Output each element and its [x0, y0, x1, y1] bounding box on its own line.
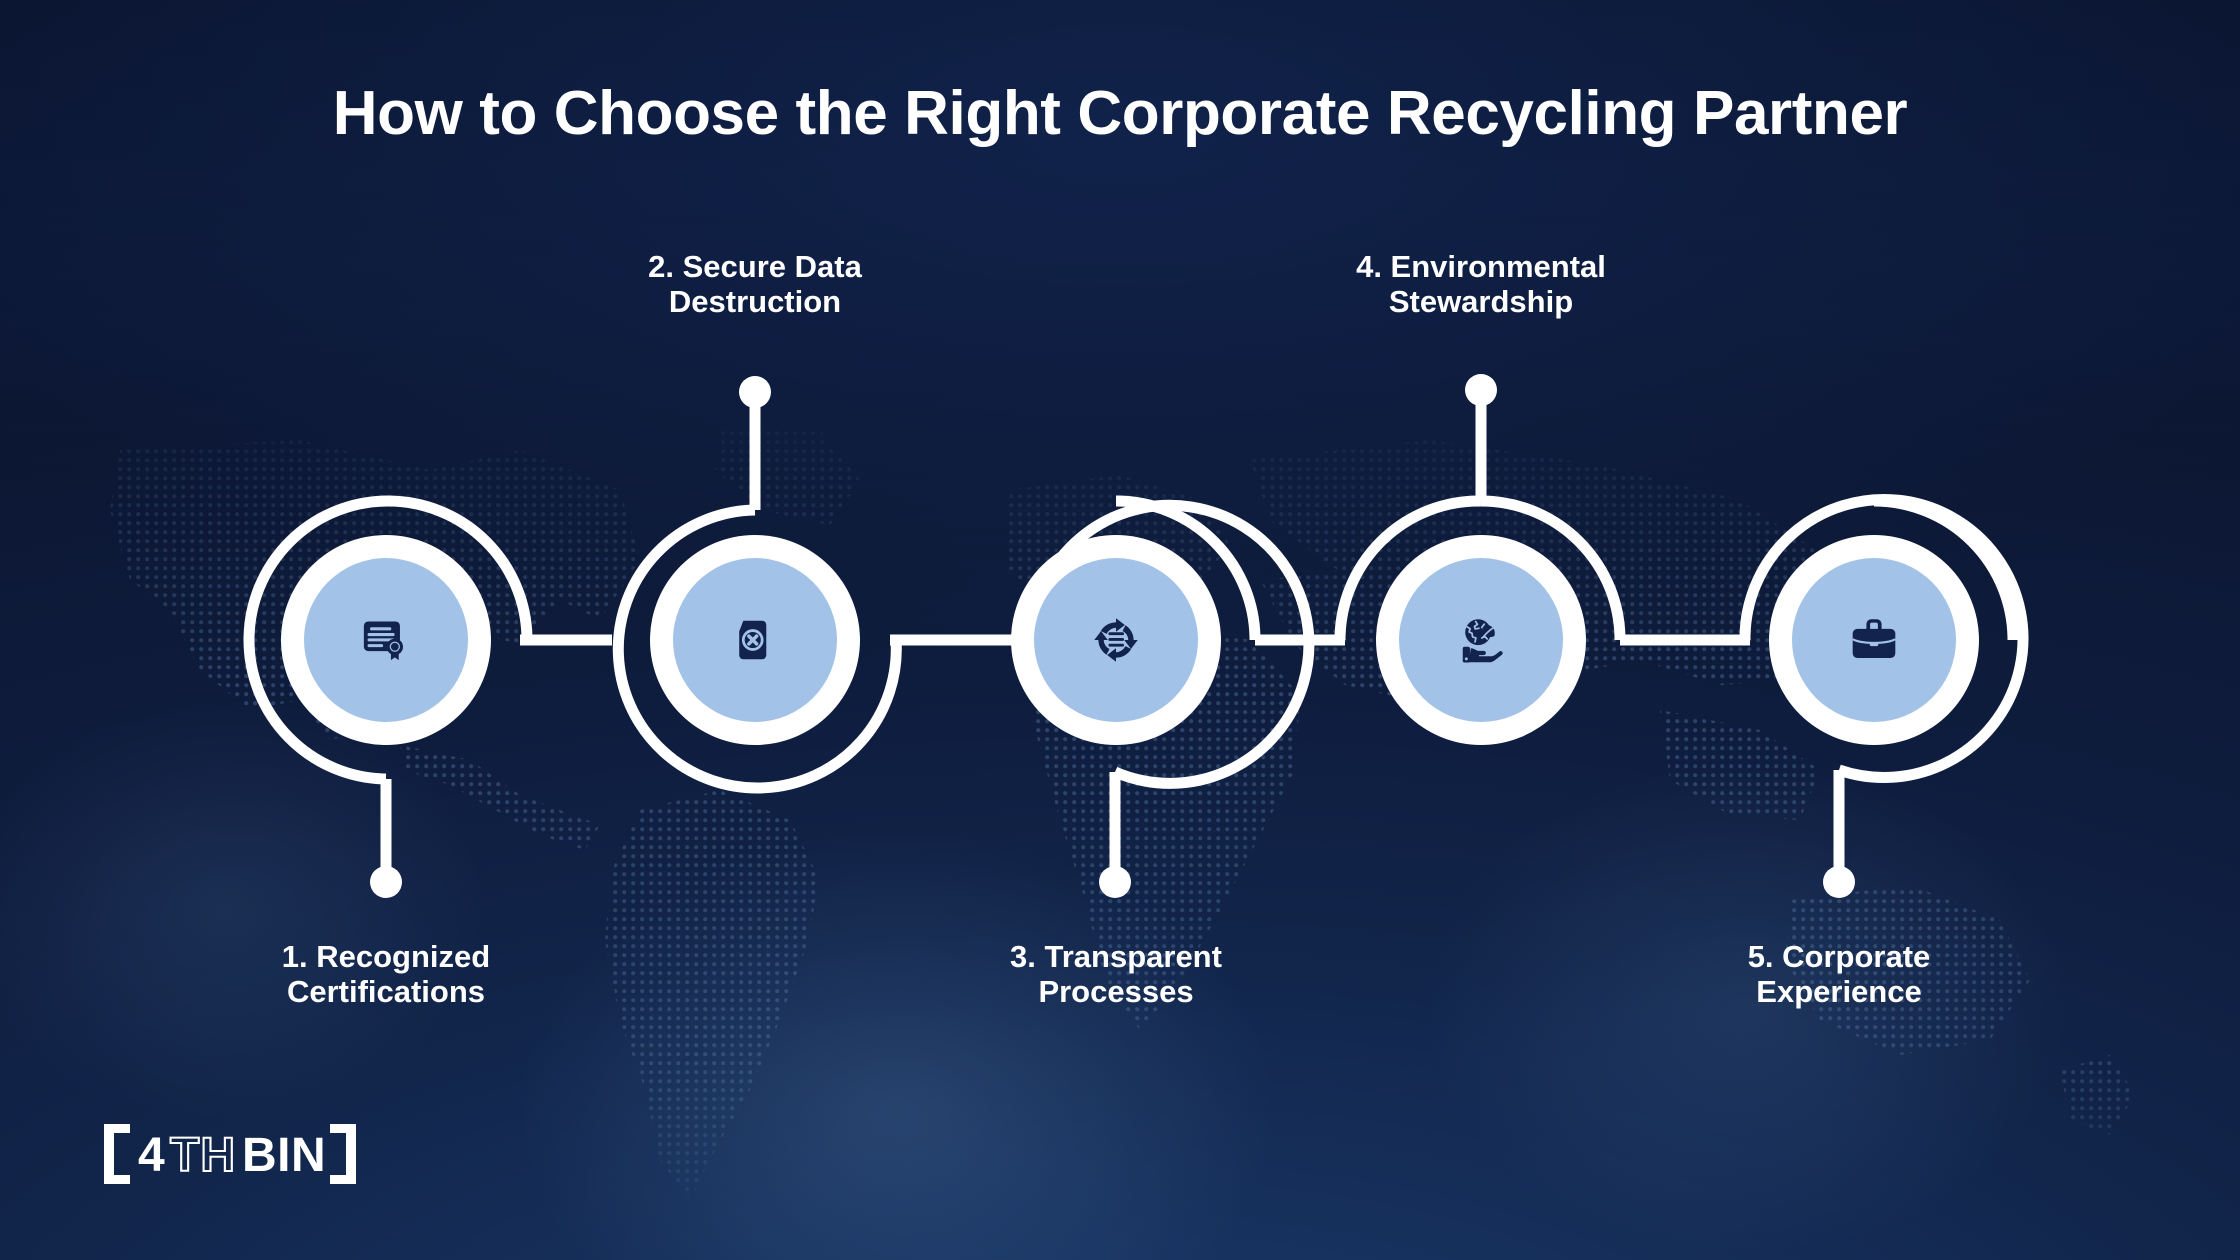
process-flow-diagram [0, 0, 2240, 1260]
step-node-1[interactable] [281, 535, 491, 745]
step-node-5[interactable] [1769, 535, 1979, 745]
step-label-2: 2. Secure Data Destruction [545, 250, 965, 319]
brand-logo[interactable]: 4 TH BIN [100, 1118, 360, 1190]
logo-bracket-close [330, 1124, 356, 1184]
step-label-5: 5. Corporate Experience [1629, 940, 2049, 1009]
file-destroy-icon [739, 621, 766, 660]
node-4-dot [1465, 374, 1497, 406]
logo-text-solid-1: 4 [138, 1129, 165, 1182]
node-2-dot [739, 376, 771, 408]
step-label-4: 4. Environmental Stewardship [1271, 250, 1691, 319]
step-node-3[interactable] [1011, 535, 1221, 745]
step-label-3: 3. Transparent Processes [906, 940, 1326, 1009]
node-3-dot [1099, 866, 1131, 898]
infographic-canvas: How to Choose the Right Corporate Recycl… [0, 0, 2240, 1260]
logo-text-solid-2: BIN [242, 1129, 326, 1182]
step-label-1: 1. Recognized Certifications [176, 940, 596, 1009]
step-node-2[interactable] [650, 535, 860, 745]
logo-text-outline: TH [170, 1129, 236, 1182]
node-5-dot [1823, 866, 1855, 898]
node-1-dot [370, 866, 402, 898]
logo-bracket-open [104, 1124, 130, 1184]
step-node-4[interactable] [1376, 535, 1586, 745]
